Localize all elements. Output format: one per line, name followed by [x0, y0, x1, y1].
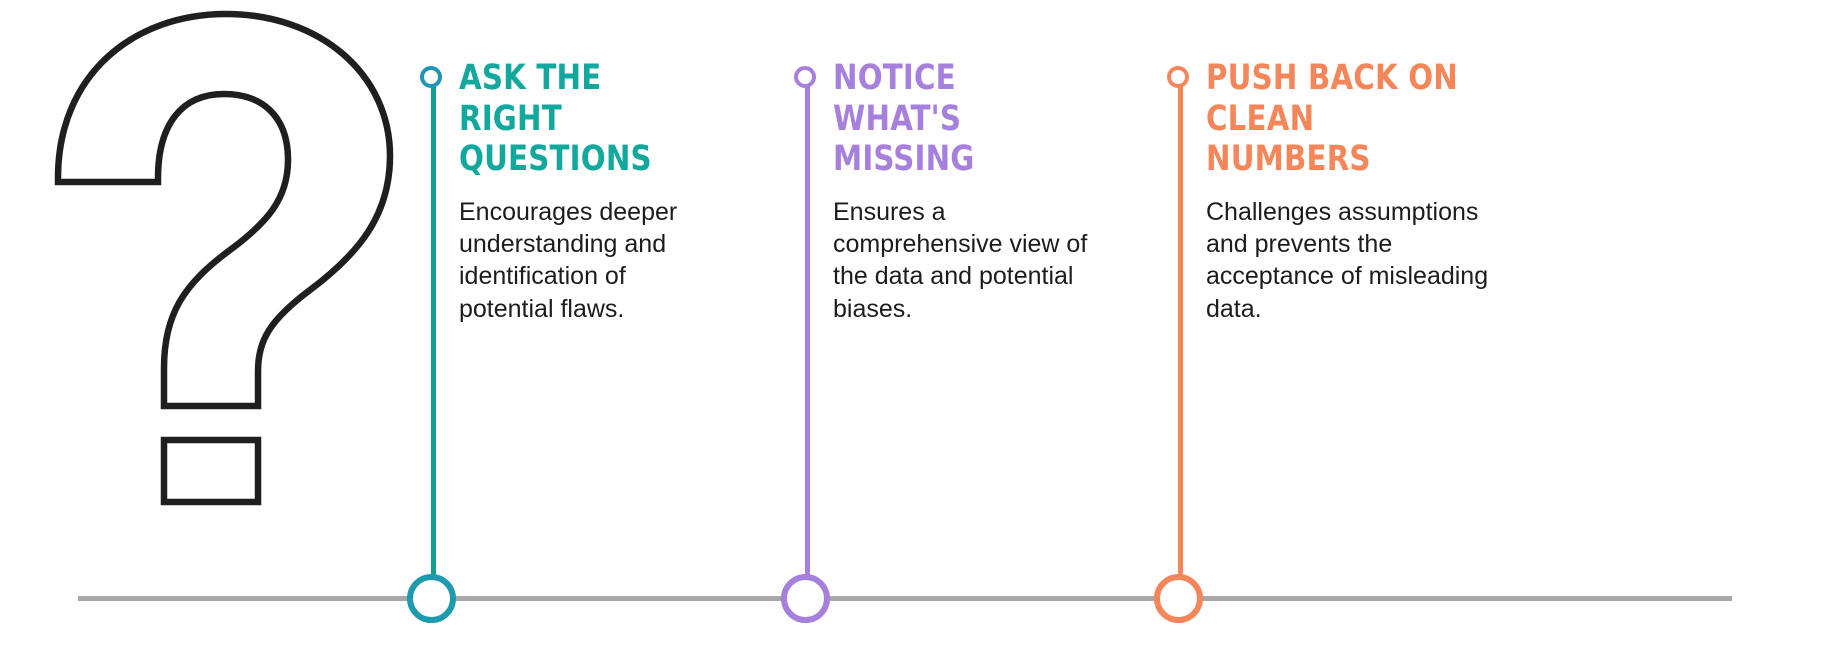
timeline-item-title: Ask the Right Questions	[459, 58, 696, 180]
infographic-canvas: Ask the Right Questions Encourages deepe…	[0, 0, 1824, 672]
timeline-item-title: Push Back on Clean Numbers	[1206, 58, 1476, 180]
circle-node-icon-bottom[interactable]	[1154, 574, 1203, 623]
timeline-item-description: Encourages deeper understanding and iden…	[459, 196, 714, 325]
circle-node-icon-bottom[interactable]	[407, 574, 456, 623]
timeline-stem	[1178, 84, 1183, 580]
timeline-stem	[431, 84, 436, 580]
circle-node-icon-bottom[interactable]	[781, 574, 830, 623]
circle-node-icon-top	[420, 66, 442, 88]
timeline-item-content: Notice What's Missing Ensures a comprehe…	[833, 58, 1098, 325]
circle-node-icon-top	[1167, 66, 1189, 88]
timeline-item-description: Ensures a comprehensive view of the data…	[833, 196, 1098, 325]
circle-node-icon-top	[794, 66, 816, 88]
timeline-baseline	[78, 596, 1732, 601]
timeline-item-content: Ask the Right Questions Encourages deepe…	[459, 58, 714, 325]
question-mark-icon	[52, 2, 412, 542]
timeline-item-content: Push Back on Clean Numbers Challenges as…	[1206, 58, 1496, 325]
timeline-item-title: Notice What's Missing	[833, 58, 1079, 180]
timeline-item-description: Challenges assumptions and prevents the …	[1206, 196, 1496, 325]
timeline-stem	[805, 84, 810, 580]
